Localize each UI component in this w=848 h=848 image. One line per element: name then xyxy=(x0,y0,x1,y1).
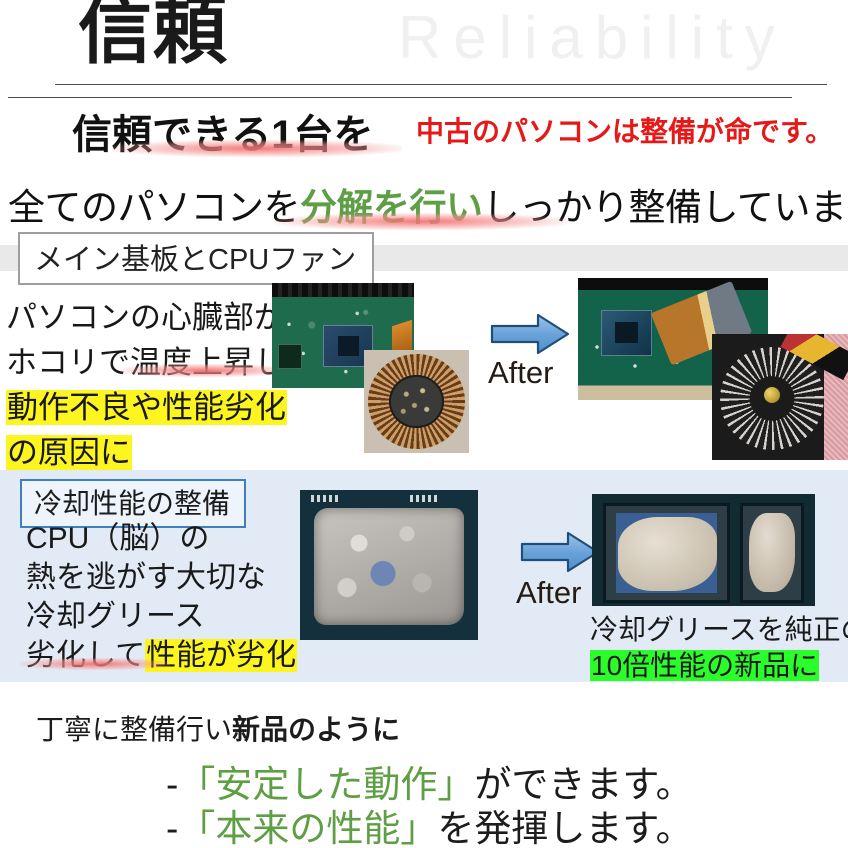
section1-text-line3-highlight: 動作不良や性能劣化 xyxy=(6,390,287,425)
section1-body-text: パソコンの心臓部が ホコリで温度上昇し 動作不良や性能劣化 の原因に xyxy=(6,295,287,475)
section2-right-line1: 冷却グリースを純正の xyxy=(590,612,848,648)
cpu-fan-cleaned-photo xyxy=(712,334,848,460)
pink-underline-glow-section2 xyxy=(20,658,170,670)
section1-text-line2: ホコリで温度上昇し xyxy=(6,340,287,385)
footer-line1: 丁寧に整備行い新品のように xyxy=(36,708,400,748)
divider-lower xyxy=(8,97,792,98)
section2-right-line2: 10倍性能の新品に xyxy=(590,648,848,684)
after-arrow-icon-2 xyxy=(520,530,600,574)
footer-line3-rest: を発揮します。 xyxy=(437,808,692,848)
section2-right-text: 冷却グリースを純正の 10倍性能の新品に xyxy=(590,612,848,684)
section2-text-line1: CPU（脳）の xyxy=(26,519,297,558)
thermal-grease-new-photo xyxy=(592,494,815,606)
lead-text-before: 全てのパソコンを xyxy=(8,187,300,228)
section2-body-text: CPU（脳）の 熱を逃がす大切な 冷却グリース 劣化して性能が劣化 xyxy=(26,519,297,675)
footer-line3-dash: - xyxy=(166,808,178,848)
section1-label: メイン基板とCPUファン xyxy=(18,232,374,285)
footer-line3: -「本来の性能」を発揮します。 xyxy=(166,798,693,848)
page-title-en: Reliability xyxy=(398,0,787,75)
subhead-red-note: 中古のパソコンは整備が命です。 xyxy=(416,110,833,150)
cpu-fan-dusty-photo xyxy=(364,350,469,453)
footer-line1-plain: 丁寧に整備行い xyxy=(36,714,232,745)
after-label-1: After xyxy=(488,355,553,391)
section1-text-line4-highlight: の原因に xyxy=(6,435,132,470)
section2-text-line3: 冷却グリース xyxy=(26,597,297,636)
footer-line1-bold: 新品のように xyxy=(232,714,400,745)
after-arrow-icon-1 xyxy=(490,312,570,356)
section1-text-line1: パソコンの心臓部が xyxy=(6,295,287,340)
section1-text-line4: の原因に xyxy=(6,430,287,475)
thermal-grease-degraded-photo xyxy=(300,490,478,640)
section2-right-line2-highlight: 10倍性能の新品に xyxy=(590,650,819,681)
footer-line3-green: 「本来の性能」 xyxy=(178,808,437,848)
section2-text-line2: 熱を逃がす大切な xyxy=(26,558,297,597)
page-title-jp: 信頼 xyxy=(78,0,228,68)
divider-upper xyxy=(55,84,827,85)
section1-text-line3: 動作不良や性能劣化 xyxy=(6,385,287,430)
header: 信頼 Reliability xyxy=(0,0,848,96)
pink-underline-glow-lead xyxy=(276,213,568,230)
pink-underline-glow-subhead xyxy=(112,140,402,157)
infographic-page: 信頼 Reliability 信頼できる1台を 中古のパソコンは整備が命です。 … xyxy=(0,0,848,848)
after-label-2: After xyxy=(516,575,581,611)
pink-underline-glow-section1 xyxy=(120,364,290,377)
